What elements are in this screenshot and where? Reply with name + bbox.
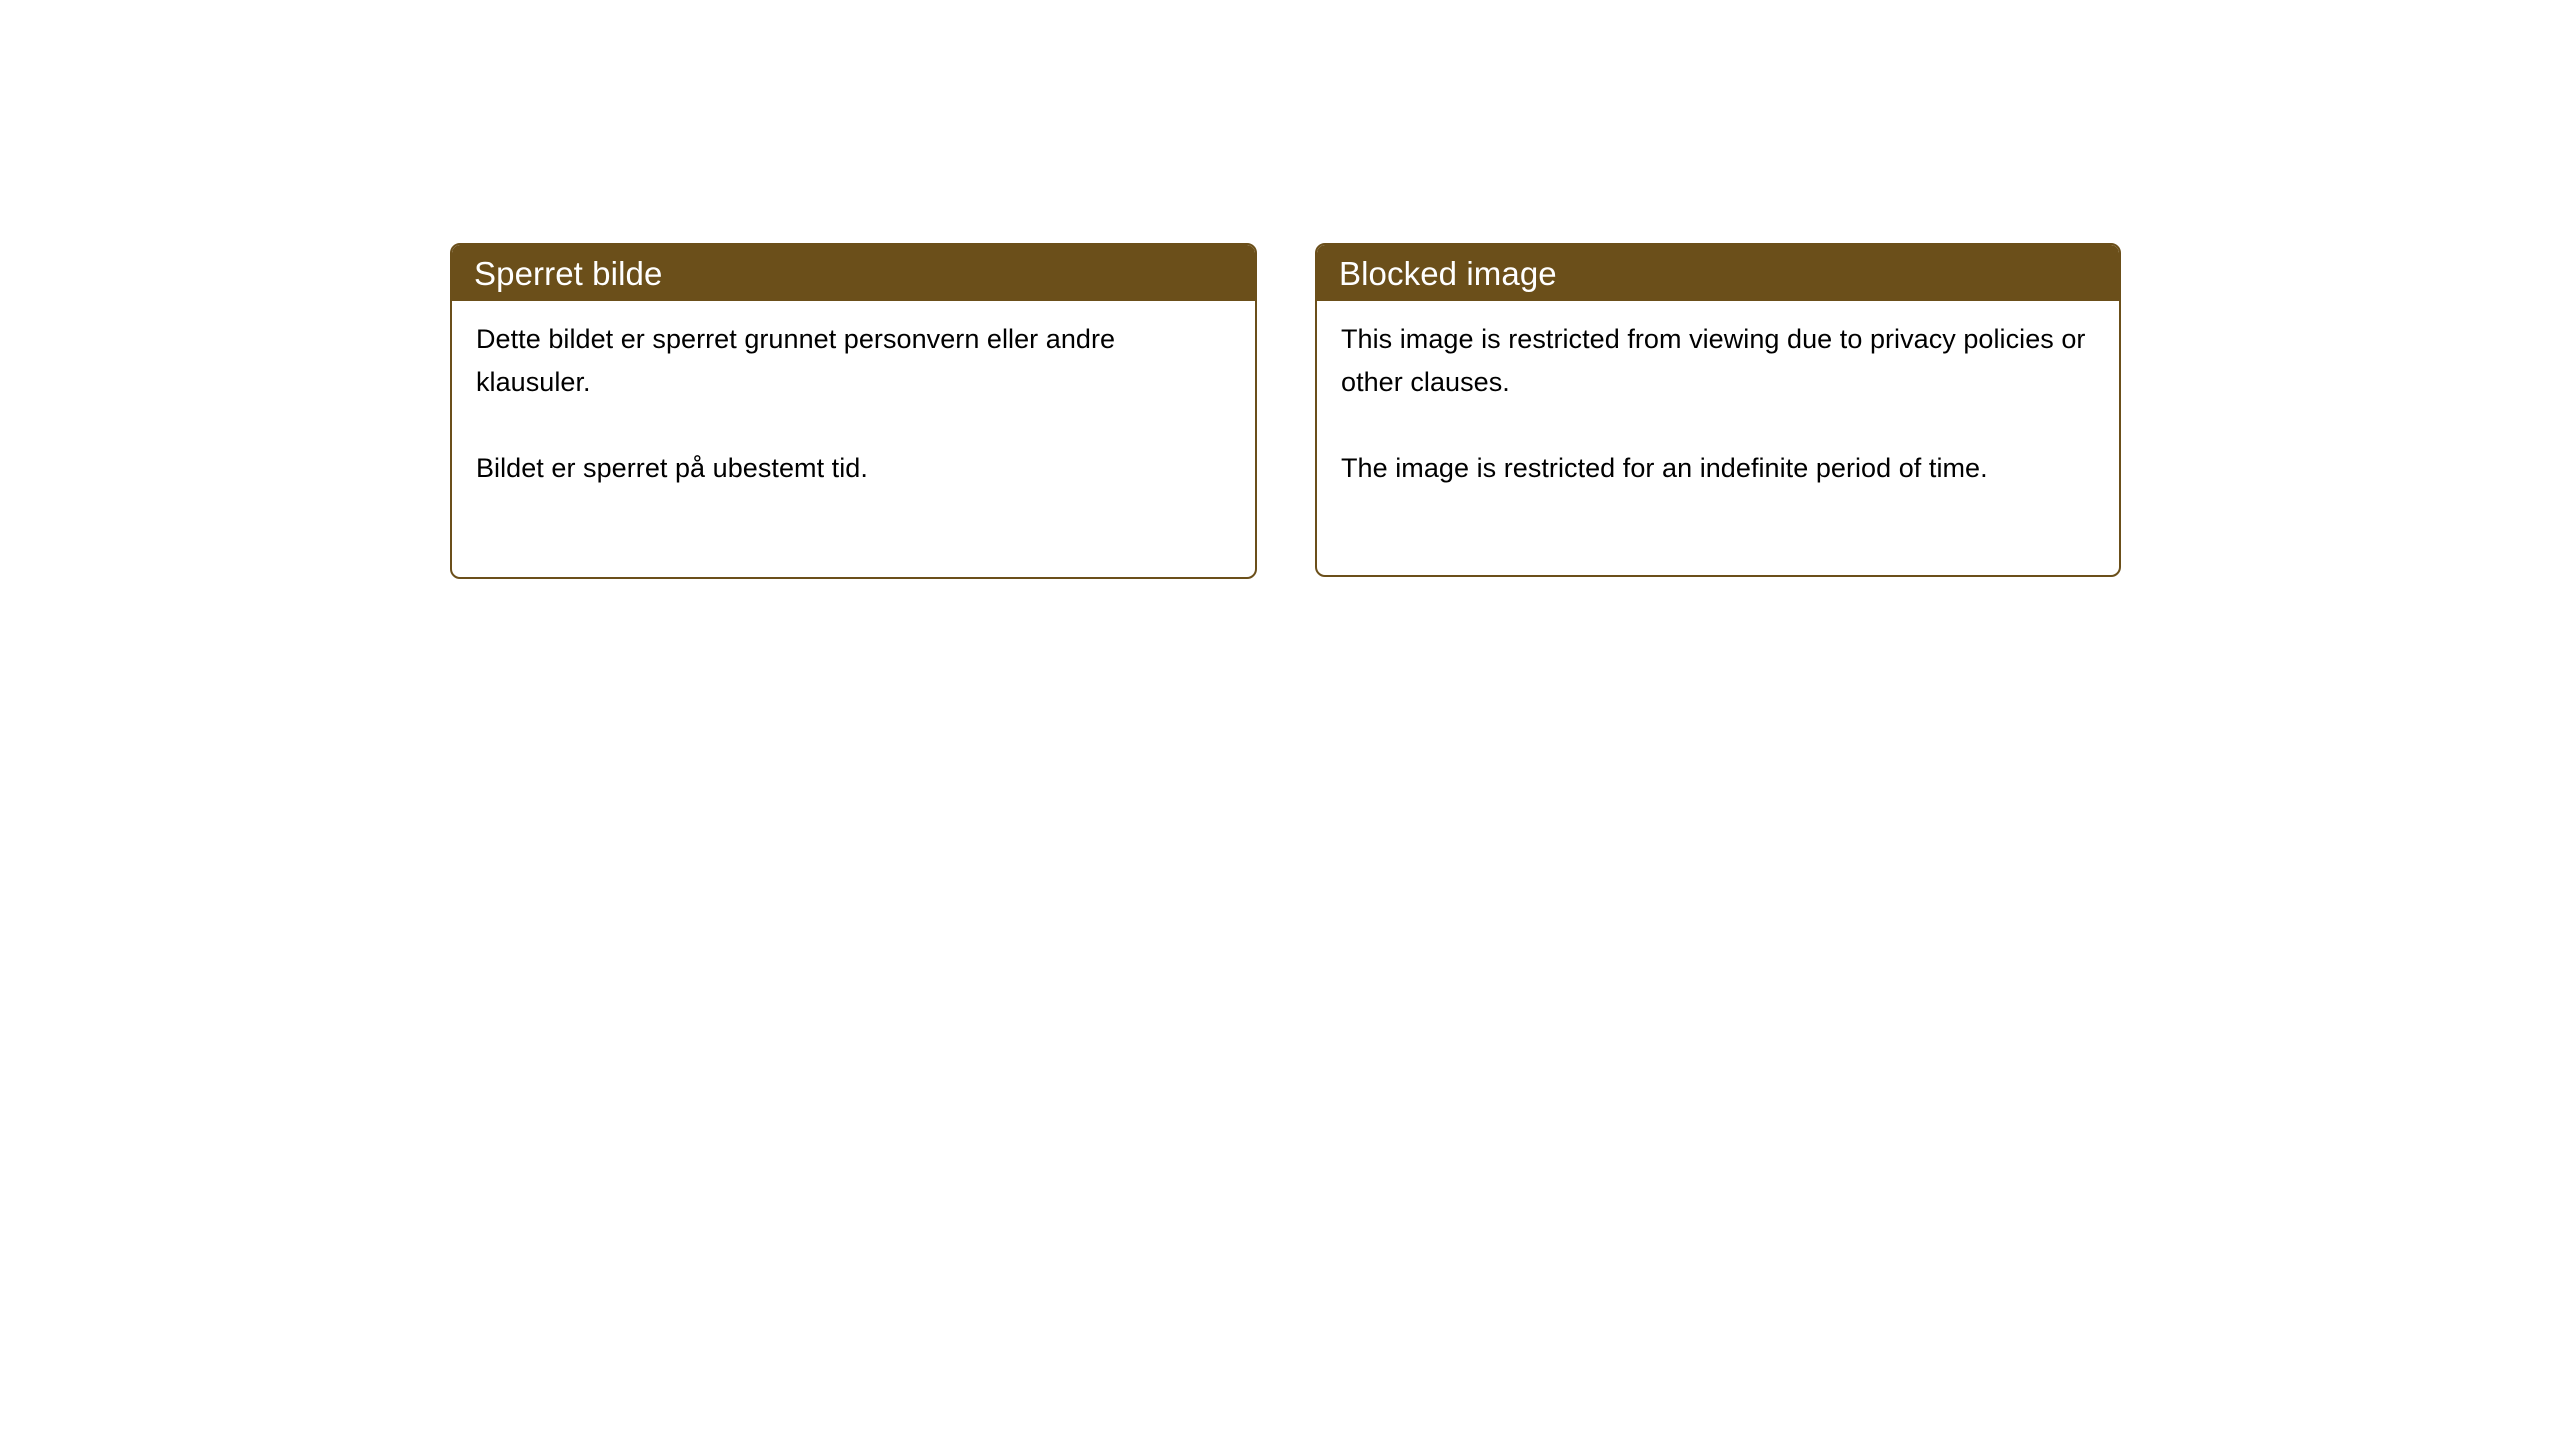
card-paragraph-reason-norwegian: Dette bildet er sperret grunnet personve… — [476, 318, 1231, 404]
card-paragraph-duration-english: The image is restricted for an indefinit… — [1341, 447, 2095, 490]
card-header-english: Blocked image — [1317, 245, 2119, 301]
card-body-norwegian: Dette bildet er sperret grunnet personve… — [452, 301, 1255, 490]
blocked-image-card-norwegian: Sperret bilde Dette bildet er sperret gr… — [450, 243, 1257, 579]
card-body-english: This image is restricted from viewing du… — [1317, 301, 2119, 490]
card-title-english: Blocked image — [1339, 257, 1557, 290]
card-title-norwegian: Sperret bilde — [474, 257, 662, 290]
card-paragraph-duration-norwegian: Bildet er sperret på ubestemt tid. — [476, 447, 1231, 490]
page-canvas: Sperret bilde Dette bildet er sperret gr… — [0, 0, 2560, 1440]
card-paragraph-reason-english: This image is restricted from viewing du… — [1341, 318, 2095, 404]
card-header-norwegian: Sperret bilde — [452, 245, 1255, 301]
blocked-image-card-english: Blocked image This image is restricted f… — [1315, 243, 2121, 577]
